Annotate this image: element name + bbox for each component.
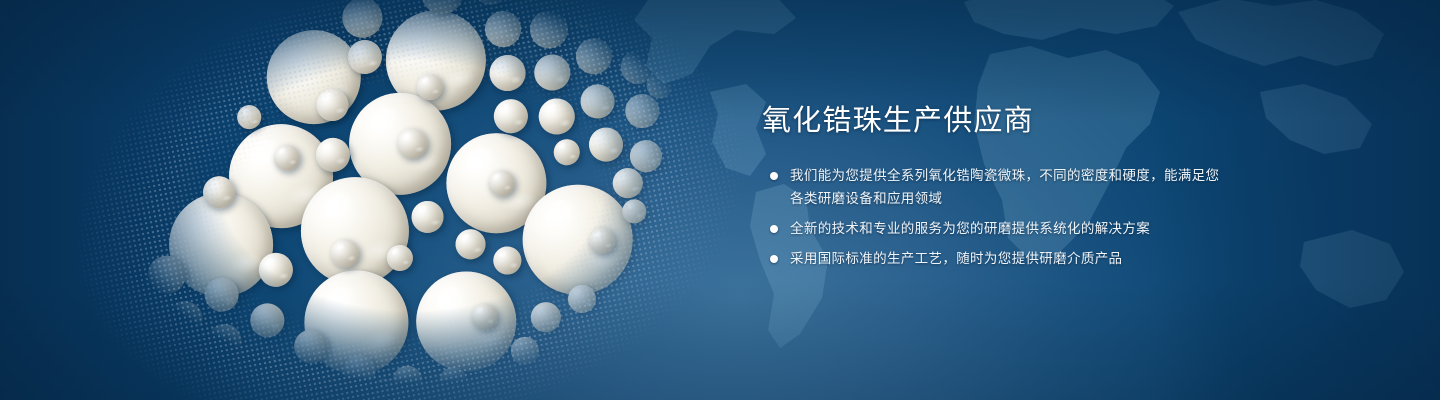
list-item-text: 我们能为您提供全系列氧化锆陶瓷微珠，不同的密度和硬度，能满足您各类研磨设备和应用… bbox=[790, 168, 1219, 206]
list-item: 我们能为您提供全系列氧化锆陶瓷微珠，不同的密度和硬度，能满足您各类研磨设备和应用… bbox=[762, 164, 1232, 210]
page-title: 氧化锆珠生产供应商 bbox=[762, 104, 1232, 138]
hero-banner: 氧化锆珠生产供应商 我们能为您提供全系列氧化锆陶瓷微珠，不同的密度和硬度，能满足… bbox=[0, 0, 1440, 400]
list-item-text: 全新的技术和专业的服务为您的研磨提供系统化的解决方案 bbox=[790, 221, 1150, 236]
list-item: 全新的技术和专业的服务为您的研磨提供系统化的解决方案 bbox=[762, 217, 1232, 240]
list-item: 采用国际标准的生产工艺，随时为您提供研磨介质产品 bbox=[762, 247, 1232, 270]
bullet-dot-icon bbox=[770, 225, 778, 233]
banner-content: 氧化锆珠生产供应商 我们能为您提供全系列氧化锆陶瓷微珠，不同的密度和硬度，能满足… bbox=[762, 104, 1232, 270]
bullet-dot-icon bbox=[770, 255, 778, 263]
list-item-text: 采用国际标准的生产工艺，随时为您提供研磨介质产品 bbox=[790, 251, 1122, 266]
bullet-dot-icon bbox=[770, 172, 778, 180]
feature-list: 我们能为您提供全系列氧化锆陶瓷微珠，不同的密度和硬度，能满足您各类研磨设备和应用… bbox=[762, 164, 1232, 270]
